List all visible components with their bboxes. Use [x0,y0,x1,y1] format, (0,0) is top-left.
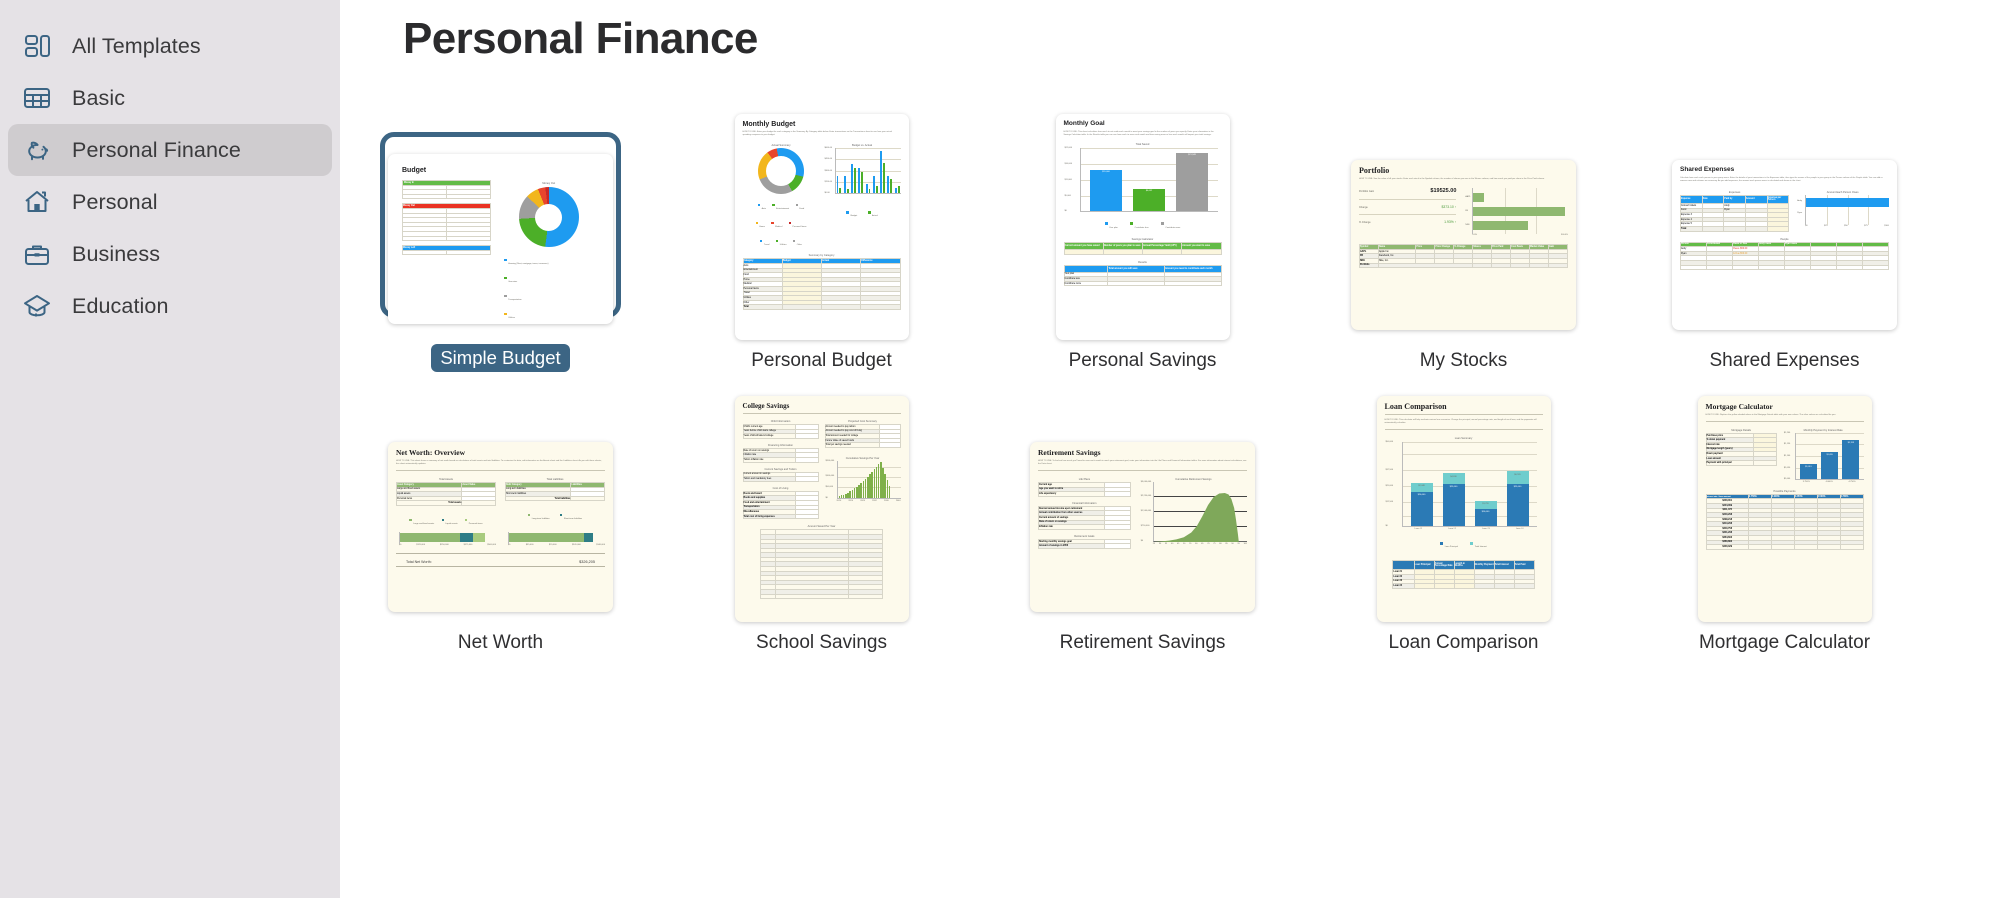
piggy-bank-icon [20,133,54,167]
template-card-my-stocks[interactable]: Portfolio HOW TO USE: See the value of a… [1303,100,1624,372]
howto-text: HOW TO USE: Replace the yellow shaded va… [1706,414,1864,417]
sidebar-item-education[interactable]: Education [8,280,332,332]
sheet-title: Shared Expenses [1680,167,1889,174]
template-caption[interactable]: Simple Budget [431,344,569,372]
template-thumbnail: Shared Expenses Calculate how much each … [1672,160,1897,330]
main-content: Personal Finance Budget Money In [340,0,1999,898]
template-caption[interactable]: Mortgage Calculator [1699,632,1870,654]
briefcase-icon [20,237,54,271]
templates-grid: Budget Money In Money Out [340,100,1999,654]
templates-row-1: Budget Money In Money Out [340,100,1999,372]
template-thumbnail: Retirement Savings HOW TO USE: To find o… [1030,442,1255,612]
sheet-title: Monthly Budget [743,121,901,128]
sidebar-item-business[interactable]: Business [8,228,332,280]
change-value: $373.10 ↑ [1441,205,1456,209]
page-title: Personal Finance [403,14,758,64]
template-card-retirement-savings[interactable]: Retirement Savings HOW TO USE: To find o… [982,372,1303,654]
sheet-title: Monthly Goal [1064,121,1222,128]
sidebar-item-label: Basic [72,86,125,111]
sidebar-item-label: Business [72,242,160,267]
sidebar: All Templates Basic [0,0,340,898]
template-card-personal-budget[interactable]: Monthly Budget HOW TO USE: Enter your bu… [661,100,982,372]
sheet-title: Loan Comparison [1385,403,1543,411]
sheet-title: Retirement Savings [1038,449,1247,457]
sheet-title: Budget [402,167,605,174]
template-thumbnail: Net Worth: Overview HOW TO USE: This she… [388,442,613,612]
template-caption[interactable]: Net Worth [458,632,543,654]
sidebar-item-label: All Templates [72,34,201,59]
template-card-net-worth[interactable]: Net Worth: Overview HOW TO USE: This she… [340,372,661,654]
howto-text: HOW TO USE: See the value of all your st… [1359,178,1568,181]
sidebar-item-basic[interactable]: Basic [8,72,332,124]
template-thumbnail: Mortgage Calculator HOW TO USE: Replace … [1698,396,1872,622]
template-thumbnail: Loan Comparison HOW TO USE: This calcula… [1377,396,1551,622]
sheet-title: Portfolio [1359,167,1568,175]
template-thumbnail: College Savings Child Information Child'… [735,396,909,622]
template-card-mortgage-calculator[interactable]: Mortgage Calculator HOW TO USE: Replace … [1624,372,1945,654]
sidebar-item-personal-finance[interactable]: Personal Finance [8,124,332,176]
template-caption[interactable]: Personal Savings [1069,350,1217,372]
templates-row-2: Net Worth: Overview HOW TO USE: This she… [340,372,1999,654]
sheet-title: College Savings [743,403,901,410]
graduation-icon [20,289,54,323]
grid-icon [20,29,54,63]
portfolio-gain-value: $19525.00 [1430,188,1456,194]
template-caption[interactable]: School Savings [756,632,887,654]
template-caption[interactable]: My Stocks [1420,350,1508,372]
howto-text: HOW TO USE: This calculator will help ev… [1385,419,1543,425]
sidebar-item-all-templates[interactable]: All Templates [8,20,332,72]
template-thumbnail: Budget Money In Money Out [388,154,613,324]
percent-change-value: 1.93% ↑ [1444,220,1456,224]
sidebar-item-label: Personal [72,190,158,215]
sidebar-item-label: Personal Finance [72,138,241,163]
template-card-shared-expenses[interactable]: Shared Expenses Calculate how much each … [1624,100,1945,372]
template-thumbnail: Monthly Budget HOW TO USE: Enter your bu… [735,114,909,340]
howto-text: HOW TO USE: This sheet calculates how mu… [1064,131,1222,137]
templates-browser: All Templates Basic [0,0,1999,898]
sidebar-item-label: Education [72,294,169,319]
template-card-simple-budget[interactable]: Budget Money In Money Out [340,100,661,372]
template-thumbnail: Monthly Goal HOW TO USE: This sheet calc… [1056,114,1230,340]
sheet-title: Net Worth: Overview [396,449,605,457]
template-card-personal-savings[interactable]: Monthly Goal HOW TO USE: This sheet calc… [982,100,1303,372]
template-caption[interactable]: Retirement Savings [1060,632,1226,654]
template-thumbnail: Portfolio HOW TO USE: See the value of a… [1351,160,1576,330]
net-worth-total-label: Total Net Worth: [406,560,432,564]
template-caption[interactable]: Loan Comparison [1389,632,1539,654]
template-caption[interactable]: Shared Expenses [1710,350,1860,372]
howto-text: HOW TO USE: To find out how much you'll … [1038,460,1247,466]
sidebar-item-personal[interactable]: Personal [8,176,332,228]
howto-text: HOW TO USE: Enter your budget for each c… [743,131,901,137]
table-icon [20,81,54,115]
sheet-title: Mortgage Calculator [1706,403,1864,411]
template-card-school-savings[interactable]: College Savings Child Information Child'… [661,372,982,654]
howto-text: HOW TO USE: This sheet shows a summary o… [396,460,605,466]
net-worth-total-value: $326,205 [579,560,595,564]
home-icon [20,185,54,219]
howto-text: Calculate how much each person in your g… [1680,177,1889,183]
template-card-loan-comparison[interactable]: Loan Comparison HOW TO USE: This calcula… [1303,372,1624,654]
template-caption[interactable]: Personal Budget [751,350,892,372]
